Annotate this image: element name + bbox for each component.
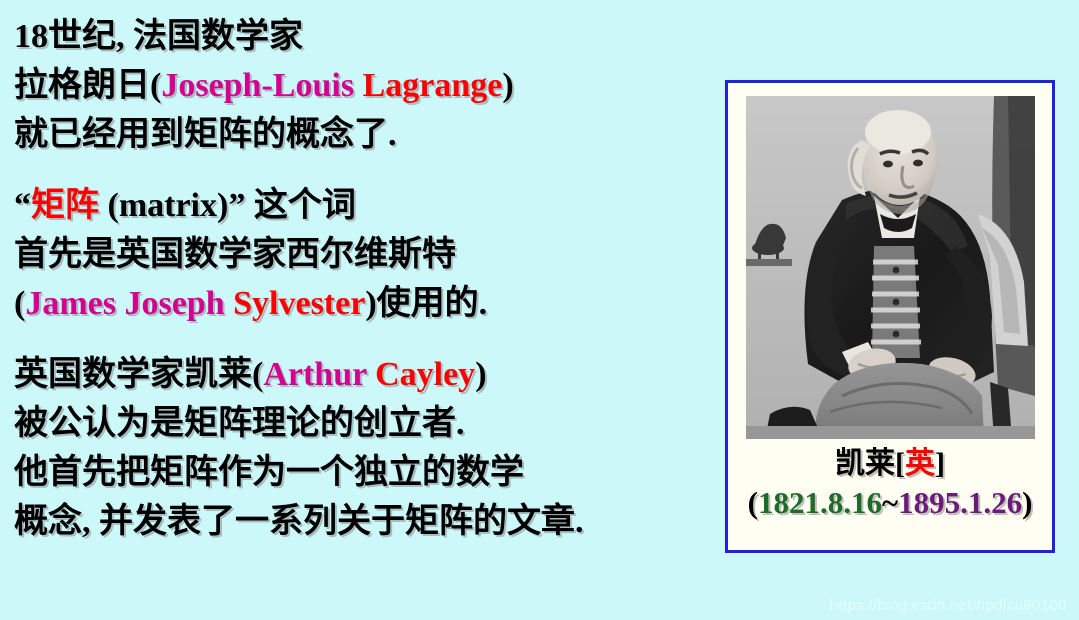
portrait-photo <box>746 96 1035 439</box>
paragraph-sylvester: “矩阵 (matrix)” 这个词首先是英国数学家西尔维斯特(James Jos… <box>14 181 724 328</box>
slide-canvas: 18世纪, 法国数学家拉格朗日(Joseph-Louis Lagrange)就已… <box>0 0 1079 620</box>
text-run-black: 被公认为是矩阵理论的创立者. <box>14 405 465 442</box>
text-line: (James Joseph Sylvester)使用的. <box>14 279 724 328</box>
text-run-purple: 1895.1.26 <box>898 485 1022 520</box>
text-run-red: Sylvester <box>233 285 365 322</box>
text-line: 拉格朗日(Joseph-Louis Lagrange) <box>14 61 724 110</box>
text-run-magenta: James Joseph <box>25 285 233 322</box>
text-run-magenta: Arthur <box>263 356 375 393</box>
text-run-magenta: Joseph-Louis <box>161 67 362 104</box>
text-run-black: ( <box>748 485 758 520</box>
text-line: 概念, 并发表了一系列关于矩阵的文章. <box>14 497 724 546</box>
text-line: “矩阵 (matrix)” 这个词 <box>14 181 724 230</box>
text-run-black: ~ <box>882 485 898 520</box>
text-run-black: 18世纪, 法国数学家 <box>14 18 303 55</box>
text-run-black: 概念, 并发表了一系列关于矩阵的文章. <box>14 503 584 540</box>
text-line: 他首先把矩阵作为一个独立的数学 <box>14 448 724 497</box>
text-column: 18世纪, 法国数学家拉格朗日(Joseph-Louis Lagrange)就已… <box>14 12 724 560</box>
text-line: 被公认为是矩阵理论的创立者. <box>14 399 724 448</box>
text-run-black: ) <box>502 67 513 104</box>
text-run-black: ) <box>475 356 486 393</box>
watermark-url: https://blog.csdn.net/hpdlzu80100 <box>829 597 1067 614</box>
text-run-black: 他首先把矩阵作为一个独立的数学 <box>14 454 524 491</box>
text-run-black: 首先是英国数学家西尔维斯特 <box>14 236 456 273</box>
text-run-black: 英国数学家凯莱( <box>14 356 263 393</box>
text-line: 18世纪, 法国数学家 <box>14 12 724 61</box>
text-line: 就已经用到矩阵的概念了. <box>14 110 724 159</box>
text-run-black: ) <box>1022 485 1032 520</box>
text-run-black: )使用的. <box>365 285 487 322</box>
paragraph-lagrange: 18世纪, 法国数学家拉格朗日(Joseph-Louis Lagrange)就已… <box>14 12 724 159</box>
text-run-red: Lagrange <box>363 67 503 104</box>
portrait-caption-dates: (1821.8.16~1895.1.26) <box>748 484 1033 522</box>
text-run-black: 凯莱[ <box>835 447 905 480</box>
text-run-black: (matrix)” 这个词 <box>99 187 356 224</box>
text-run-green: 1821.8.16 <box>758 485 882 520</box>
text-run-red: Cayley <box>375 356 475 393</box>
portrait-frame: 凯莱[英] (1821.8.16~1895.1.26) <box>725 80 1055 553</box>
paragraph-cayley: 英国数学家凯莱(Arthur Cayley)被公认为是矩阵理论的创立者.他首先把… <box>14 350 724 546</box>
text-run-black: 拉格朗日( <box>14 67 161 104</box>
text-run-red: 英 <box>905 447 935 480</box>
text-run-black: “ <box>14 187 31 224</box>
text-run-red: 矩阵 <box>31 187 99 224</box>
portrait-caption-name: 凯莱[英] <box>835 446 945 482</box>
text-line: 首先是英国数学家西尔维斯特 <box>14 230 724 279</box>
text-run-black: ] <box>935 447 945 480</box>
text-run-black: 就已经用到矩阵的概念了. <box>14 116 397 153</box>
text-line: 英国数学家凯莱(Arthur Cayley) <box>14 350 724 399</box>
text-run-black: ( <box>14 285 25 322</box>
